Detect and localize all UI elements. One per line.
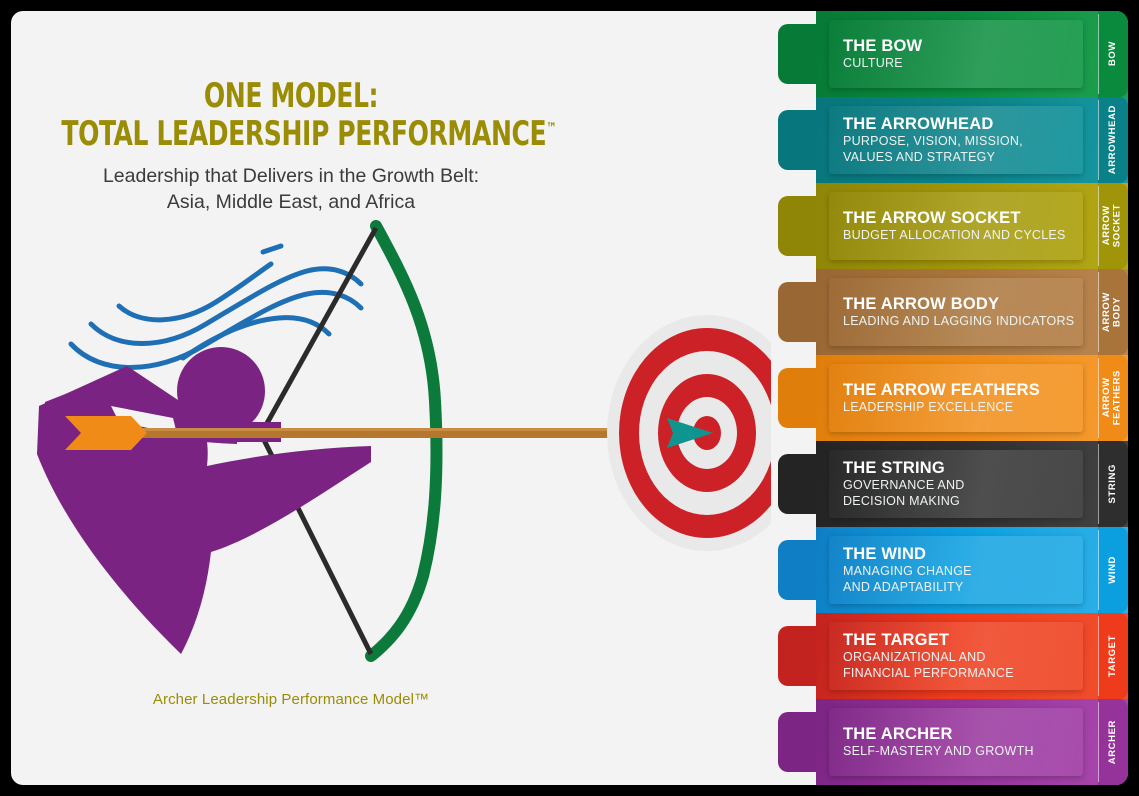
archer-silhouette: [37, 347, 371, 654]
list-item-side-tab[interactable]: TARGET: [1098, 613, 1128, 699]
list-item-subtitle: LEADERSHIP EXCELLENCE: [843, 400, 1083, 415]
list-item-side-tab-label: WIND: [1108, 556, 1119, 584]
list-item-card: THE WIND MANAGING CHANGE AND ADAPTABILIT…: [829, 536, 1083, 604]
list-item[interactable]: 9 THE ARCHER SELF-MASTERY AND GROWTH ARC…: [771, 699, 1128, 785]
arrow-shaft-highlight: [113, 428, 685, 431]
list-item-title: THE ARROW SOCKET: [843, 209, 1083, 227]
bow-limb: [371, 226, 437, 656]
list-item[interactable]: 1 THE BOW CULTURE BOW: [771, 11, 1128, 97]
page-subtitle: Leadership that Delivers in the Growth B…: [11, 163, 571, 216]
title-line-two: TOTAL LEADERSHIP PERFORMANCE™: [61, 117, 520, 151]
archer-bow-target-illustration: [31, 216, 771, 676]
list-item-side-tab-label: ARROW FEATHERS: [1102, 370, 1123, 425]
list-item-side-tab-label: ARROW SOCKET: [1102, 204, 1123, 247]
list-item-side-tab[interactable]: ARCHER: [1098, 699, 1128, 785]
list-item-card: THE ARROWHEAD PURPOSE, VISION, MISSION, …: [829, 106, 1083, 174]
list-item-subtitle: PURPOSE, VISION, MISSION, VALUES AND STR…: [843, 134, 1083, 165]
list-item-subtitle: CULTURE: [843, 56, 1083, 71]
list-item-band[interactable]: THE ARCHER SELF-MASTERY AND GROWTH: [816, 699, 1128, 785]
list-item-side-tab-label: ARCHER: [1108, 720, 1119, 764]
list-item-card: THE BOW CULTURE: [829, 20, 1083, 88]
trademark-symbol: ™: [546, 121, 556, 137]
list-item[interactable]: 6 THE STRING GOVERNANCE AND DECISION MAK…: [771, 441, 1128, 527]
list-item-side-tab[interactable]: ARROW SOCKET: [1098, 183, 1128, 269]
list-item-card: THE ARROW BODY LEADING AND LAGGING INDIC…: [829, 278, 1083, 346]
list-item-side-tab[interactable]: ARROW FEATHERS: [1098, 355, 1128, 441]
list-item-band[interactable]: THE STRING GOVERNANCE AND DECISION MAKIN…: [816, 441, 1128, 527]
screenshot-canvas: ONE MODEL: TOTAL LEADERSHIP PERFORMANCE™…: [0, 0, 1139, 796]
list-item-title: THE ARROW FEATHERS: [843, 381, 1083, 399]
list-item-subtitle: MANAGING CHANGE AND ADAPTABILITY: [843, 564, 1083, 595]
list-item[interactable]: 5 THE ARROW FEATHERS LEADERSHIP EXCELLEN…: [771, 355, 1128, 441]
list-item-band[interactable]: THE ARROWHEAD PURPOSE, VISION, MISSION, …: [816, 97, 1128, 183]
list-item-side-tab-label: STRING: [1108, 464, 1119, 504]
list-item-subtitle: LEADING AND LAGGING INDICATORS: [843, 314, 1083, 329]
list-item-card: THE STRING GOVERNANCE AND DECISION MAKIN…: [829, 450, 1083, 518]
list-item-band[interactable]: THE ARROW FEATHERS LEADERSHIP EXCELLENCE: [816, 355, 1128, 441]
list-item-side-tab-label: BOW: [1108, 41, 1119, 66]
model-components-list: 1 THE BOW CULTURE BOW 2 THE ARROWHEAD PU…: [771, 11, 1128, 785]
list-item-band[interactable]: THE BOW CULTURE: [816, 11, 1128, 97]
list-item-side-tab[interactable]: BOW: [1098, 11, 1128, 97]
list-item[interactable]: 7 THE WIND MANAGING CHANGE AND ADAPTABIL…: [771, 527, 1128, 613]
list-item-side-tab[interactable]: ARROWHEAD: [1098, 97, 1128, 183]
list-item[interactable]: 8 THE TARGET ORGANIZATIONAL AND FINANCIA…: [771, 613, 1128, 699]
title-line-one: ONE MODEL:: [61, 79, 520, 113]
list-item-band[interactable]: THE TARGET ORGANIZATIONAL AND FINANCIAL …: [816, 613, 1128, 699]
infographic-card: ONE MODEL: TOTAL LEADERSHIP PERFORMANCE™…: [11, 11, 1128, 785]
list-item-side-tab[interactable]: STRING: [1098, 441, 1128, 527]
list-item-band[interactable]: THE WIND MANAGING CHANGE AND ADAPTABILIT…: [816, 527, 1128, 613]
list-item-title: THE ARROWHEAD: [843, 115, 1083, 133]
list-item-band[interactable]: THE ARROW BODY LEADING AND LAGGING INDIC…: [816, 269, 1128, 355]
title-line-two-text: TOTAL LEADERSHIP PERFORMANCE: [61, 114, 546, 154]
list-item-subtitle: BUDGET ALLOCATION AND CYCLES: [843, 228, 1083, 243]
list-item-title: THE ARCHER: [843, 725, 1083, 743]
list-item-subtitle: GOVERNANCE AND DECISION MAKING: [843, 478, 1083, 509]
illustration-caption: Archer Leadership Performance Model™: [11, 691, 571, 708]
subtitle-line-two: Asia, Middle East, and Africa: [11, 189, 571, 215]
list-item-side-tab[interactable]: ARROW BODY: [1098, 269, 1128, 355]
list-item-side-tab-label: TARGET: [1108, 635, 1119, 677]
list-item[interactable]: 2 THE ARROWHEAD PURPOSE, VISION, MISSION…: [771, 97, 1128, 183]
list-item[interactable]: 4 THE ARROW BODY LEADING AND LAGGING IND…: [771, 269, 1128, 355]
list-item-card: THE ARROW SOCKET BUDGET ALLOCATION AND C…: [829, 192, 1083, 260]
list-item[interactable]: 3 THE ARROW SOCKET BUDGET ALLOCATION AND…: [771, 183, 1128, 269]
list-item-card: THE TARGET ORGANIZATIONAL AND FINANCIAL …: [829, 622, 1083, 690]
list-item-subtitle: SELF-MASTERY AND GROWTH: [843, 744, 1083, 759]
left-panel: ONE MODEL: TOTAL LEADERSHIP PERFORMANCE™…: [11, 11, 771, 785]
list-item-title: THE BOW: [843, 37, 1083, 55]
list-item-title: THE STRING: [843, 459, 1083, 477]
list-item-title: THE WIND: [843, 545, 1083, 563]
list-item-card: THE ARCHER SELF-MASTERY AND GROWTH: [829, 708, 1083, 776]
list-item-title: THE ARROW BODY: [843, 295, 1083, 313]
list-item-card: THE ARROW FEATHERS LEADERSHIP EXCELLENCE: [829, 364, 1083, 432]
list-item-band[interactable]: THE ARROW SOCKET BUDGET ALLOCATION AND C…: [816, 183, 1128, 269]
subtitle-line-one: Leadership that Delivers in the Growth B…: [11, 163, 571, 189]
list-item-side-tab-label: ARROW BODY: [1102, 292, 1123, 332]
list-item-title: THE TARGET: [843, 631, 1083, 649]
list-item-side-tab-label: ARROWHEAD: [1108, 105, 1119, 174]
list-item-side-tab[interactable]: WIND: [1098, 527, 1128, 613]
list-item-subtitle: ORGANIZATIONAL AND FINANCIAL PERFORMANCE: [843, 650, 1083, 681]
page-title: ONE MODEL: TOTAL LEADERSHIP PERFORMANCE™: [11, 79, 571, 151]
